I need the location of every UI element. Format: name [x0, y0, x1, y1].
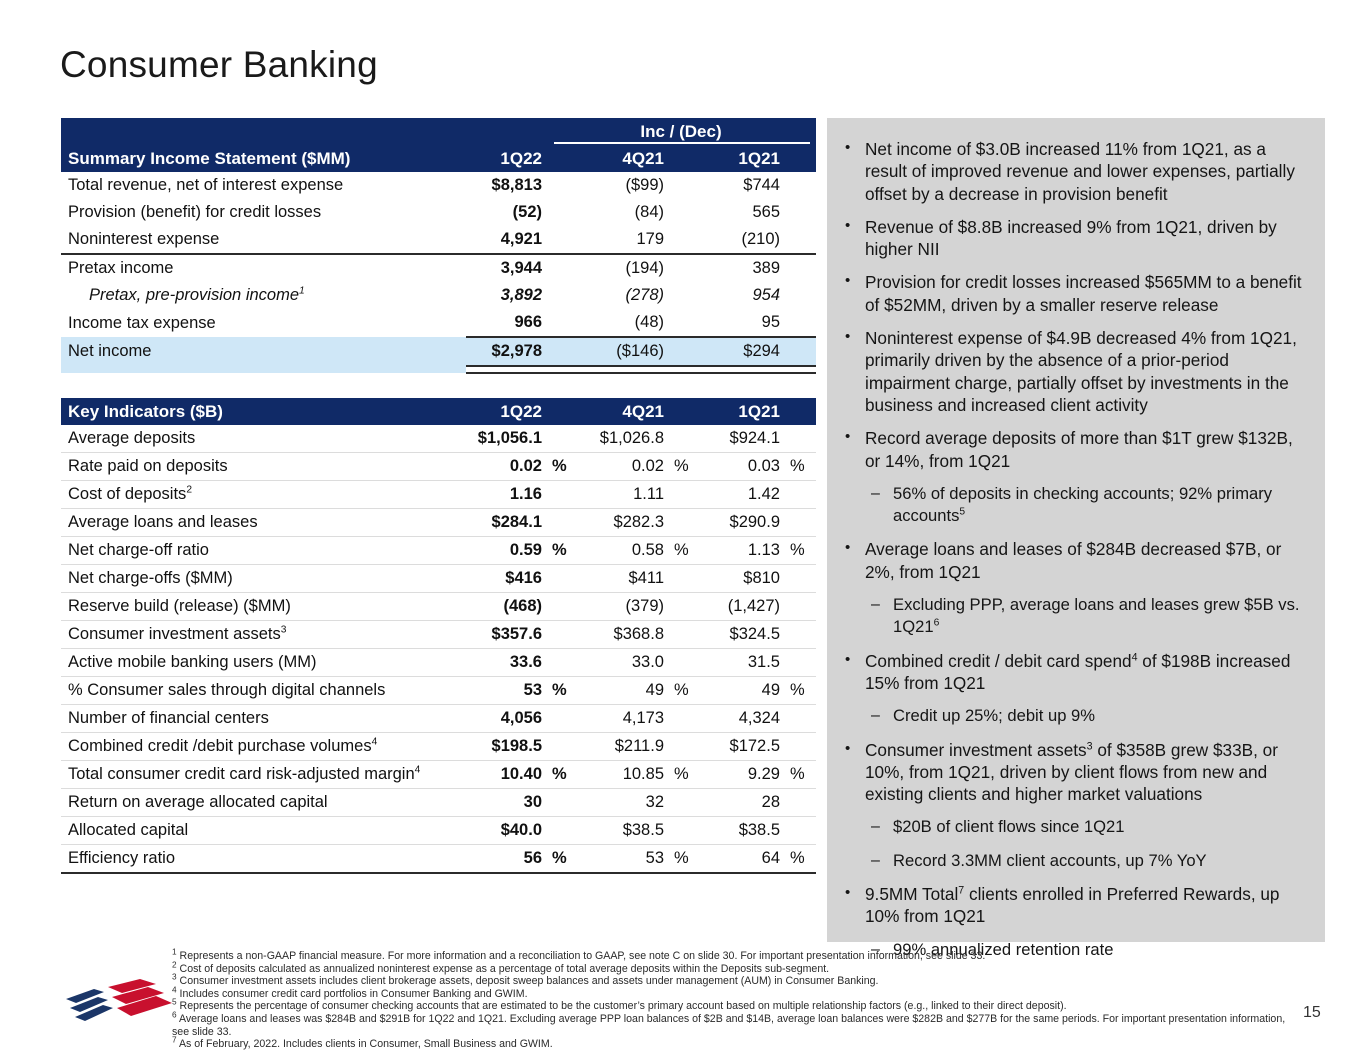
cell-1q21-unit: [784, 649, 816, 677]
footnote-marker: 4: [372, 737, 378, 748]
cell-1q21-unit: %: [784, 761, 816, 789]
cell-1q22-unit: [546, 309, 582, 337]
table-row: Efficiency ratio56%53%64%: [61, 845, 816, 874]
table-row: Net charge-offs ($MM)$416$411$810: [61, 565, 816, 593]
key-indicators-table: Key Indicators ($B) 1Q22 4Q21 1Q21 Avera…: [61, 398, 816, 874]
cell-1q21: 565: [700, 199, 784, 226]
cell-1q22-unit: [546, 199, 582, 226]
cell-1q22-unit: [546, 817, 582, 845]
cell-1q22: 1.16: [466, 481, 546, 509]
cell-1q21-unit: [784, 481, 816, 509]
footnote-marker: 4: [1132, 651, 1138, 663]
cell-1q22-unit: [546, 593, 582, 621]
table-row: Allocated capital$40.0$38.5$38.5: [61, 817, 816, 845]
cell-1q21: 389: [700, 254, 784, 282]
cell-1q21: $924.1: [700, 425, 784, 453]
indicators-col-1q21: 1Q21: [700, 398, 784, 425]
cell-1q21-unit: [784, 226, 816, 254]
row-label: Total revenue, net of interest expense: [61, 172, 466, 199]
cell-1q22: 4,921: [466, 226, 546, 254]
row-label: Number of financial centers: [61, 705, 466, 733]
table-row: Provision (benefit) for credit losses(52…: [61, 199, 816, 226]
cell-1q22-unit: %: [546, 761, 582, 789]
income-group-spacer-1q22: [466, 118, 546, 145]
cell-1q22-unit: [546, 337, 582, 366]
cell-4q21: 1.11: [582, 481, 668, 509]
cell-4q21: $1,026.8: [582, 425, 668, 453]
table-row: % Consumer sales through digital channel…: [61, 677, 816, 705]
cell-1q21-unit: [784, 199, 816, 226]
cell-4q21-unit: [668, 509, 700, 537]
cell-1q22-unit: [546, 621, 582, 649]
table-row: Consumer investment assets3$357.6$368.8$…: [61, 621, 816, 649]
highlight-bullet: Noninterest expense of $4.9B decreased 4…: [837, 327, 1311, 416]
cell-1q22: $1,056.1: [466, 425, 546, 453]
cell-1q21: 954: [700, 282, 784, 309]
cell-4q21-unit: [668, 337, 700, 366]
highlight-sub-bullet: Credit up 25%; debit up 9%: [837, 705, 1311, 727]
cell-1q21: 1.13: [700, 537, 784, 565]
income-table-group-header-row: Inc / (Dec): [61, 118, 816, 145]
income-col-label: Summary Income Statement ($MM): [61, 145, 466, 172]
cell-1q22: 33.6: [466, 649, 546, 677]
cell-1q21-unit: [784, 172, 816, 199]
indicators-col-4q21-unit: [668, 398, 700, 425]
indicators-col-1q22: 1Q22: [466, 398, 546, 425]
cell-1q21-unit: [784, 621, 816, 649]
cell-4q21: 4,173: [582, 705, 668, 733]
table-row: Income tax expense966(48)95: [61, 309, 816, 337]
income-table-body: Total revenue, net of interest expense$8…: [61, 172, 816, 373]
cell-1q22: (52): [466, 199, 546, 226]
cell-1q22-unit: %: [546, 845, 582, 874]
cell-4q21: 0.58: [582, 537, 668, 565]
row-label: Efficiency ratio: [61, 845, 466, 874]
table-row: Active mobile banking users (MM)33.633.0…: [61, 649, 816, 677]
cell-1q21: 1.42: [700, 481, 784, 509]
cell-4q21: $368.8: [582, 621, 668, 649]
cell-1q21: 95: [700, 309, 784, 337]
table-row: Pretax income3,944(194)389: [61, 254, 816, 282]
cell-4q21-unit: [668, 565, 700, 593]
cell-1q22: 53: [466, 677, 546, 705]
cell-4q21-unit: %: [668, 845, 700, 874]
table-row: Reserve build (release) ($MM)(468)(379)(…: [61, 593, 816, 621]
cell-4q21-unit: %: [668, 453, 700, 481]
row-label: Average loans and leases: [61, 509, 466, 537]
row-label: Return on average allocated capital: [61, 789, 466, 817]
cell-1q22-unit: [546, 226, 582, 254]
cell-4q21: 32: [582, 789, 668, 817]
cell-4q21: 0.02: [582, 453, 668, 481]
footnote: 1 Represents a non-GAAP financial measur…: [172, 950, 1287, 963]
cell-1q21-unit: %: [784, 537, 816, 565]
incdec-underline: [554, 142, 810, 144]
cell-4q21-unit: [668, 254, 700, 282]
cell-1q22: $357.6: [466, 621, 546, 649]
row-label: Net income: [61, 337, 466, 366]
cell-4q21-unit: [668, 226, 700, 254]
footnote-marker: 4: [415, 765, 421, 776]
footnote: 5 Represents the percentage of consumer …: [172, 1000, 1287, 1013]
cell-1q22-unit: [546, 425, 582, 453]
cell-1q21: 31.5: [700, 649, 784, 677]
cell-4q21: $282.3: [582, 509, 668, 537]
footnote-marker: 2: [186, 485, 192, 496]
cell-1q21: $294: [700, 337, 784, 366]
footnotes: 1 Represents a non-GAAP financial measur…: [172, 950, 1287, 1051]
cell-1q22: 30: [466, 789, 546, 817]
cell-1q22: $284.1: [466, 509, 546, 537]
cell-4q21-unit: [668, 282, 700, 309]
row-label: Combined credit /debit purchase volumes4: [61, 733, 466, 761]
cell-1q21-unit: %: [784, 677, 816, 705]
cell-1q22: 3,944: [466, 254, 546, 282]
footnote: 2 Cost of deposits calculated as annuali…: [172, 963, 1287, 976]
cell-1q22: $8,813: [466, 172, 546, 199]
cell-4q21-unit: [668, 309, 700, 337]
indicators-col-label: Key Indicators ($B): [61, 398, 466, 425]
cell-1q21: 0.03: [700, 453, 784, 481]
income-col-1q21-unit: [784, 145, 816, 172]
underline-spacer: [61, 366, 466, 373]
cell-1q22: $2,978: [466, 337, 546, 366]
cell-4q21-unit: [668, 817, 700, 845]
indicators-col-1q22-unit: [546, 398, 582, 425]
cell-1q22: (468): [466, 593, 546, 621]
indicators-col-4q21: 4Q21: [582, 398, 668, 425]
row-label: Consumer investment assets3: [61, 621, 466, 649]
footnote: 7 As of February, 2022. Includes clients…: [172, 1038, 1287, 1051]
cell-1q22: 10.40: [466, 761, 546, 789]
row-label: Net charge-off ratio: [61, 537, 466, 565]
income-col-4q21: 4Q21: [582, 145, 668, 172]
cell-1q21: $290.9: [700, 509, 784, 537]
cell-1q22: 3,892: [466, 282, 546, 309]
cell-1q21: $324.5: [700, 621, 784, 649]
table-row: Net income$2,978($146)$294: [61, 337, 816, 366]
indicators-table-head: Key Indicators ($B) 1Q22 4Q21 1Q21: [61, 398, 816, 425]
cell-1q21-unit: [784, 733, 816, 761]
page-title: Consumer Banking: [60, 44, 378, 86]
cell-4q21: 33.0: [582, 649, 668, 677]
income-col-1q22-unit: [546, 145, 582, 172]
row-label: Allocated capital: [61, 817, 466, 845]
cell-1q21-unit: [784, 509, 816, 537]
highlight-bullet: Record average deposits of more than $1T…: [837, 427, 1311, 472]
table-row: Pretax, pre-provision income13,892(278)9…: [61, 282, 816, 309]
cell-1q22-unit: [546, 649, 582, 677]
row-label: Rate paid on deposits: [61, 453, 466, 481]
cell-1q22-unit: [546, 282, 582, 309]
highlight-bullet: Net income of $3.0B increased 11% from 1…: [837, 138, 1311, 205]
income-col-1q21: 1Q21: [700, 145, 784, 172]
row-label: Active mobile banking users (MM): [61, 649, 466, 677]
cell-1q22: 0.02: [466, 453, 546, 481]
cell-4q21: (379): [582, 593, 668, 621]
cell-1q22-unit: [546, 733, 582, 761]
cell-1q21-unit: %: [784, 845, 816, 874]
table-row: Total revenue, net of interest expense$8…: [61, 172, 816, 199]
cell-1q21-unit: [784, 593, 816, 621]
indicators-table-header-row: Key Indicators ($B) 1Q22 4Q21 1Q21: [61, 398, 816, 425]
cell-1q22: $416: [466, 565, 546, 593]
footnote-number: 2: [172, 960, 177, 969]
row-label: Net charge-offs ($MM): [61, 565, 466, 593]
row-label: Cost of deposits2: [61, 481, 466, 509]
table-row: Cost of deposits21.161.111.42: [61, 481, 816, 509]
footnote-marker: 1: [299, 286, 305, 297]
indicators-col-1q21-unit: [784, 398, 816, 425]
cell-1q22-unit: [546, 254, 582, 282]
highlight-sub-bullet: 56% of deposits in checking accounts; 92…: [837, 483, 1311, 528]
cell-4q21-unit: [668, 705, 700, 733]
footnote-marker: 6: [934, 618, 940, 629]
cell-4q21-unit: [668, 172, 700, 199]
row-label: Reserve build (release) ($MM): [61, 593, 466, 621]
cell-1q21-unit: [784, 309, 816, 337]
cell-1q22-unit: [546, 509, 582, 537]
cell-4q21-unit: [668, 425, 700, 453]
highlight-bullet: Provision for credit losses increased $5…: [837, 271, 1311, 316]
cell-1q21-unit: [784, 282, 816, 309]
indicators-table-body: Average deposits$1,056.1$1,026.8$924.1Ra…: [61, 425, 816, 873]
table-row: Rate paid on deposits0.02%0.02%0.03%: [61, 453, 816, 481]
cell-1q21-unit: %: [784, 453, 816, 481]
footnote: 6 Average loans and leases was $284B and…: [172, 1013, 1287, 1038]
cell-4q21: ($146): [582, 337, 668, 366]
cell-4q21-unit: [668, 789, 700, 817]
footnote: 4 Includes consumer credit card portfoli…: [172, 988, 1287, 1001]
cell-1q21: 28: [700, 789, 784, 817]
cell-1q22-unit: [546, 172, 582, 199]
boa-flag-icon: [64, 977, 176, 1029]
underline-rule: [466, 366, 816, 373]
cell-1q22-unit: %: [546, 537, 582, 565]
cell-1q21-unit: [784, 789, 816, 817]
cell-1q21: $810: [700, 565, 784, 593]
cell-4q21-unit: %: [668, 537, 700, 565]
table-row: Net charge-off ratio0.59%0.58%1.13%: [61, 537, 816, 565]
income-table-header-row: Summary Income Statement ($MM) 1Q22 4Q21…: [61, 145, 816, 172]
row-label: Pretax income: [61, 254, 466, 282]
cell-1q22-unit: [546, 705, 582, 733]
cell-1q22: 4,056: [466, 705, 546, 733]
bank-of-america-logo: [64, 977, 176, 1029]
row-label: Total consumer credit card risk-adjusted…: [61, 761, 466, 789]
row-label: Noninterest expense: [61, 226, 466, 254]
footnote-number: 7: [172, 1036, 177, 1045]
row-label: % Consumer sales through digital channel…: [61, 677, 466, 705]
cell-1q22-unit: %: [546, 453, 582, 481]
cell-1q22-unit: [546, 789, 582, 817]
cell-1q21: 9.29: [700, 761, 784, 789]
highlight-sub-bullet: Record 3.3MM client accounts, up 7% YoY: [837, 850, 1311, 872]
cell-1q22: 56: [466, 845, 546, 874]
cell-4q21: (194): [582, 254, 668, 282]
highlight-bullet: Average loans and leases of $284B decrea…: [837, 538, 1311, 583]
table-row: Average loans and leases$284.1$282.3$290…: [61, 509, 816, 537]
cell-1q21-unit: [784, 565, 816, 593]
income-group-spacer: [61, 118, 466, 145]
footnote: 3 Consumer investment assets includes cl…: [172, 975, 1287, 988]
cell-4q21-unit: [668, 733, 700, 761]
highlights-panel: Net income of $3.0B increased 11% from 1…: [827, 118, 1325, 942]
cell-1q21: (210): [700, 226, 784, 254]
footnote-marker: 5: [959, 507, 965, 518]
highlight-sub-bullet: $20B of client flows since 1Q21: [837, 816, 1311, 838]
cell-1q22-unit: [546, 481, 582, 509]
cell-1q21-unit: [784, 817, 816, 845]
table-row: Number of financial centers4,0564,1734,3…: [61, 705, 816, 733]
row-label: Provision (benefit) for credit losses: [61, 199, 466, 226]
highlight-bullet: Consumer investment assets3 of $358B gre…: [837, 739, 1311, 806]
cell-1q21: 64: [700, 845, 784, 874]
cell-1q21-unit: [784, 337, 816, 366]
row-label: Pretax, pre-provision income1: [61, 282, 466, 309]
cell-1q21: $38.5: [700, 817, 784, 845]
cell-1q22: 966: [466, 309, 546, 337]
footnote-marker: 3: [1087, 740, 1093, 752]
cell-1q21-unit: [784, 254, 816, 282]
cell-1q22-unit: [546, 565, 582, 593]
table-row: Total consumer credit card risk-adjusted…: [61, 761, 816, 789]
cell-4q21: $38.5: [582, 817, 668, 845]
cell-4q21: (48): [582, 309, 668, 337]
cell-4q21-unit: %: [668, 677, 700, 705]
cell-1q21-unit: [784, 705, 816, 733]
net-income-double-underline: [61, 366, 816, 373]
cell-4q21-unit: [668, 593, 700, 621]
highlights-list: Net income of $3.0B increased 11% from 1…: [837, 138, 1311, 961]
highlight-sub-bullet: Excluding PPP, average loans and leases …: [837, 594, 1311, 639]
row-label: Average deposits: [61, 425, 466, 453]
cell-1q21: 49: [700, 677, 784, 705]
table-row: Return on average allocated capital30322…: [61, 789, 816, 817]
cell-4q21-unit: %: [668, 761, 700, 789]
cell-1q21: $172.5: [700, 733, 784, 761]
cell-4q21: ($99): [582, 172, 668, 199]
page-number: 15: [1303, 1004, 1321, 1022]
summary-income-statement-table: Inc / (Dec) Summary Income Statement ($M…: [61, 118, 816, 374]
highlight-bullet: 9.5MM Total7 clients enrolled in Preferr…: [837, 883, 1311, 928]
row-label: Income tax expense: [61, 309, 466, 337]
cell-1q22: $40.0: [466, 817, 546, 845]
footnote-number: 1: [172, 947, 177, 956]
income-col-1q22: 1Q22: [466, 145, 546, 172]
cell-1q22: $198.5: [466, 733, 546, 761]
cell-4q21: 10.85: [582, 761, 668, 789]
cell-4q21: (84): [582, 199, 668, 226]
cell-1q21: $744: [700, 172, 784, 199]
cell-1q22: 0.59: [466, 537, 546, 565]
cell-4q21: 49: [582, 677, 668, 705]
cell-1q21-unit: [784, 425, 816, 453]
cell-4q21-unit: [668, 481, 700, 509]
cell-4q21: 179: [582, 226, 668, 254]
cell-4q21: $211.9: [582, 733, 668, 761]
table-row: Combined credit /debit purchase volumes4…: [61, 733, 816, 761]
cell-4q21: $411: [582, 565, 668, 593]
cell-1q22-unit: %: [546, 677, 582, 705]
cell-1q21: 4,324: [700, 705, 784, 733]
highlight-bullet: Revenue of $8.8B increased 9% from 1Q21,…: [837, 216, 1311, 261]
income-table-head: Inc / (Dec) Summary Income Statement ($M…: [61, 118, 816, 172]
cell-4q21: (278): [582, 282, 668, 309]
cell-4q21-unit: [668, 649, 700, 677]
cell-4q21: 53: [582, 845, 668, 874]
table-row: Noninterest expense4,921179(210): [61, 226, 816, 254]
footnote-marker: 7: [958, 884, 964, 896]
cell-1q21: (1,427): [700, 593, 784, 621]
income-col-4q21-unit: [668, 145, 700, 172]
table-row: Average deposits$1,056.1$1,026.8$924.1: [61, 425, 816, 453]
highlight-bullet: Combined credit / debit card spend4 of $…: [837, 650, 1311, 695]
income-group-header-incdec: Inc / (Dec): [546, 118, 816, 145]
cell-4q21-unit: [668, 199, 700, 226]
cell-4q21-unit: [668, 621, 700, 649]
footnote-marker: 3: [281, 625, 287, 636]
